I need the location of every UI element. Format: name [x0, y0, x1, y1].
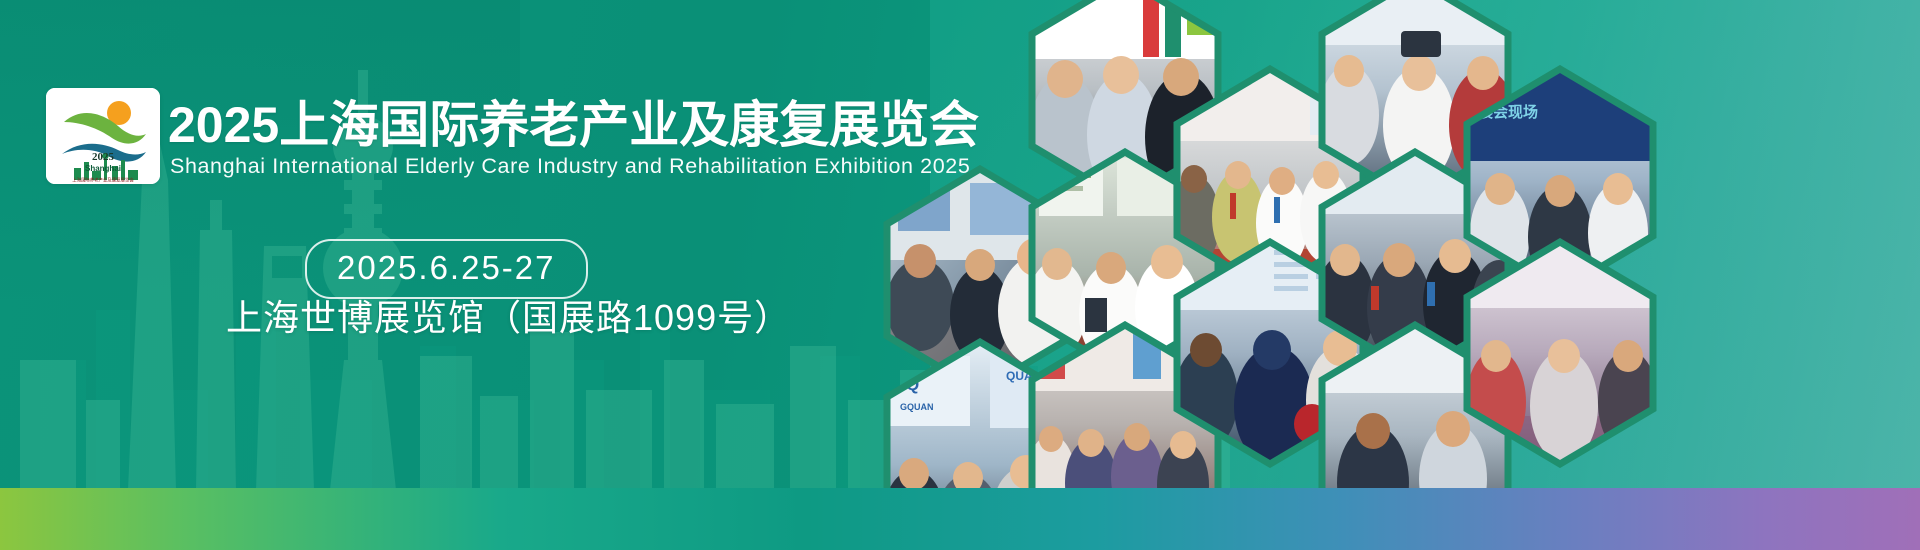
- hexagon-photo-collage: Q GQUAN QUAN: [870, 0, 1920, 550]
- logo-year: 2025: [92, 151, 115, 163]
- exhibition-banner: 2025 Shanghai 上海国际养老产业及康复展览会 2025上海国际养老产…: [0, 0, 1920, 550]
- bottom-gradient-bar: [0, 488, 1920, 550]
- page-title: 2025上海国际养老产业及康复展览会: [168, 97, 928, 153]
- logo-artwork: 2025 Shanghai 上海国际养老产业及康复展览会: [46, 88, 160, 184]
- svg-text:GQUAN: GQUAN: [900, 402, 934, 412]
- page-subtitle: Shanghai International Elderly Care Indu…: [170, 153, 950, 179]
- logo-caption: 上海国际养老产业及康复展览会: [72, 177, 134, 184]
- hex-photo-12: [1460, 238, 1660, 468]
- event-date-badge: 2025.6.25-27: [305, 239, 588, 299]
- event-venue: 上海世博展览馆（国展路1099号）: [226, 296, 791, 340]
- logo-city: Shanghai: [85, 164, 121, 173]
- exhibition-logo: 2025 Shanghai 上海国际养老产业及康复展览会: [46, 88, 160, 184]
